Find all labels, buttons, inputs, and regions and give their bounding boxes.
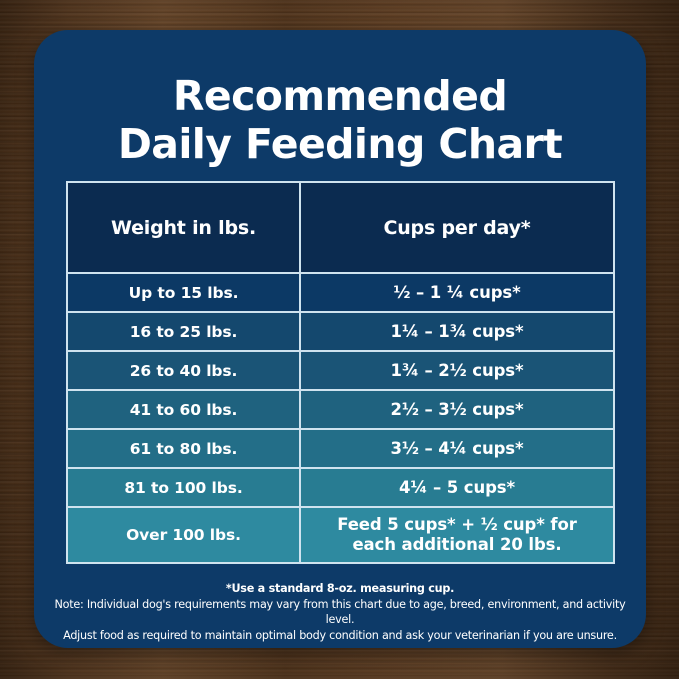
table-row: Up to 15 lbs. ½ – 1 ¼ cups* — [67, 273, 614, 312]
table-row: 81 to 100 lbs. 4¼ – 5 cups* — [67, 468, 614, 507]
column-header-cups: Cups per day* — [300, 182, 614, 273]
footnote-adjust: Adjust food as required to maintain opti… — [52, 628, 628, 644]
cell-cups: 1¾ – 2½ cups* — [300, 351, 614, 390]
cell-cups: 4¼ – 5 cups* — [300, 468, 614, 507]
cell-cups-line-2: each additional 20 lbs. — [301, 535, 613, 555]
page-title-line-2: Daily Feeding Chart — [34, 120, 646, 168]
cell-cups: ½ – 1 ¼ cups* — [300, 273, 614, 312]
cell-weight: Up to 15 lbs. — [67, 273, 300, 312]
footnote-note: Note: Individual dog's requirements may … — [52, 597, 628, 628]
cell-weight: 81 to 100 lbs. — [67, 468, 300, 507]
cell-cups-line-1: Feed 5 cups* + ½ cup* for — [301, 515, 613, 535]
column-header-weight: Weight in lbs. — [67, 182, 300, 273]
cell-weight: Over 100 lbs. — [67, 507, 300, 563]
cell-weight: 26 to 40 lbs. — [67, 351, 300, 390]
footnote-measuring-cup: *Use a standard 8-oz. measuring cup. — [52, 581, 628, 597]
cell-cups: 1¼ – 1¾ cups* — [300, 312, 614, 351]
cell-weight: 16 to 25 lbs. — [67, 312, 300, 351]
table-row: 16 to 25 lbs. 1¼ – 1¾ cups* — [67, 312, 614, 351]
cell-weight: 61 to 80 lbs. — [67, 429, 300, 468]
page-title: Recommended Daily Feeding Chart — [34, 72, 646, 168]
table-header-row: Weight in lbs. Cups per day* — [67, 182, 614, 273]
table-row: 41 to 60 lbs. 2½ – 3½ cups* — [67, 390, 614, 429]
cell-weight: 41 to 60 lbs. — [67, 390, 300, 429]
cell-cups: 2½ – 3½ cups* — [300, 390, 614, 429]
cell-cups: Feed 5 cups* + ½ cup* for each additiona… — [300, 507, 614, 563]
cell-cups: 3½ – 4¼ cups* — [300, 429, 614, 468]
footnotes: *Use a standard 8-oz. measuring cup. Not… — [52, 581, 628, 643]
table-row: Over 100 lbs. Feed 5 cups* + ½ cup* for … — [67, 507, 614, 563]
table-row: 61 to 80 lbs. 3½ – 4¼ cups* — [67, 429, 614, 468]
table-row: 26 to 40 lbs. 1¾ – 2½ cups* — [67, 351, 614, 390]
screenshot-stage: Recommended Daily Feeding Chart Weight i… — [0, 0, 679, 679]
feeding-table: Weight in lbs. Cups per day* Up to 15 lb… — [66, 181, 615, 564]
page-title-line-1: Recommended — [34, 72, 646, 120]
feeding-chart-card: Recommended Daily Feeding Chart Weight i… — [34, 30, 646, 648]
feeding-table-wrapper: Weight in lbs. Cups per day* Up to 15 lb… — [66, 181, 615, 564]
